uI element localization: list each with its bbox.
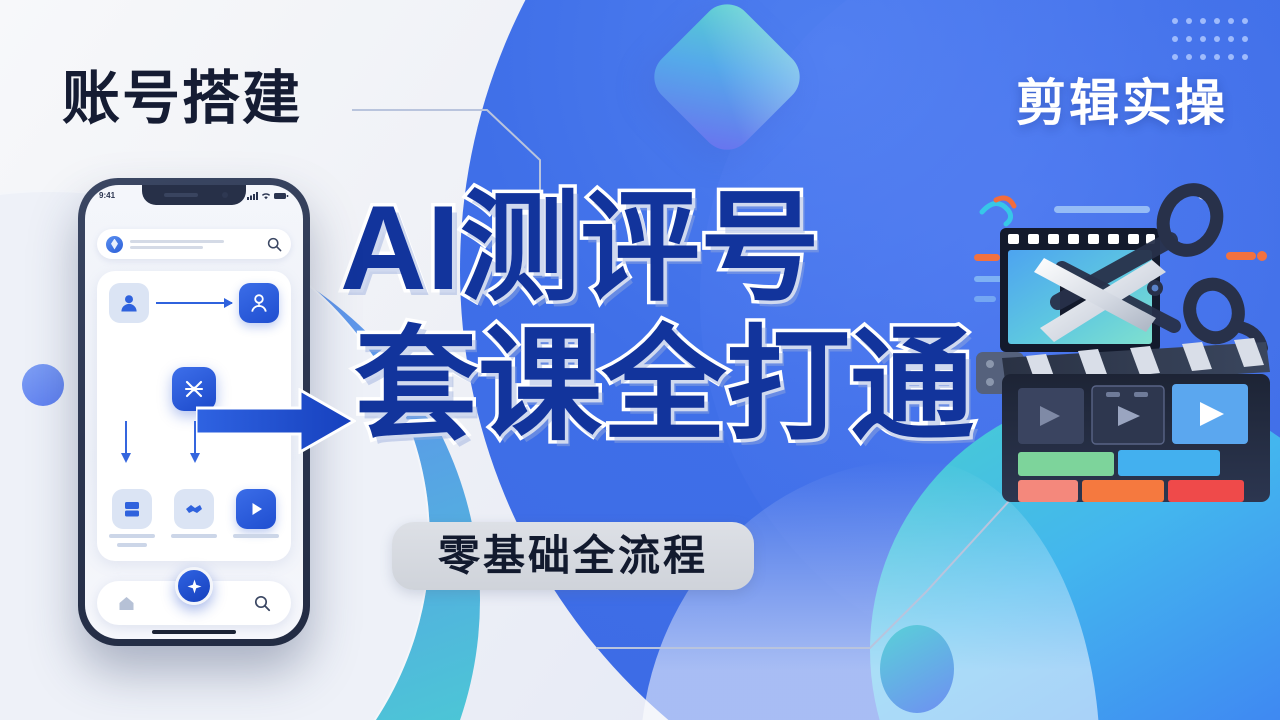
subtitle-badge: 零基础全流程 bbox=[392, 522, 754, 590]
leaf-label-bar bbox=[117, 543, 146, 547]
title-line-2: 套课全打通 bbox=[354, 324, 974, 448]
leaf-label-bar bbox=[171, 534, 217, 538]
flow-node-source bbox=[109, 283, 149, 323]
avatar-icon bbox=[106, 236, 123, 253]
status-time: 9:41 bbox=[99, 191, 115, 200]
decor-gradient-ovoid bbox=[880, 625, 954, 713]
flow-top-row bbox=[109, 283, 279, 323]
play-icon-tile bbox=[236, 489, 276, 529]
phone-status-bar: 9:41 bbox=[85, 191, 303, 200]
document-icon-tile bbox=[112, 489, 152, 529]
search-icon[interactable] bbox=[254, 595, 271, 612]
decor-small-blue-circle bbox=[22, 364, 64, 406]
user-icon bbox=[118, 292, 140, 314]
handshake-icon bbox=[183, 498, 205, 520]
label-editing-practice: 剪辑实操 bbox=[1016, 78, 1228, 128]
flow-leaf-document bbox=[109, 489, 155, 547]
search-input[interactable] bbox=[130, 240, 260, 249]
leaf-label-bar bbox=[233, 534, 279, 538]
flow-bottom-row bbox=[109, 489, 279, 547]
create-button[interactable] bbox=[175, 567, 213, 605]
document-icon bbox=[121, 498, 143, 520]
big-right-arrow bbox=[196, 388, 356, 454]
flow-arrow-right bbox=[156, 302, 232, 304]
wifi-icon bbox=[261, 192, 271, 200]
video-editing-graphic bbox=[974, 176, 1274, 506]
verified-user-icon bbox=[248, 292, 270, 314]
battery-icon bbox=[274, 192, 289, 200]
subtitle-text: 零基础全流程 bbox=[438, 532, 708, 579]
leaf-label-bar bbox=[109, 534, 155, 538]
phone-search-bar[interactable] bbox=[97, 229, 291, 259]
dot-grid-pattern bbox=[1172, 18, 1256, 72]
home-icon[interactable] bbox=[117, 594, 136, 613]
plus-sparkle-icon bbox=[186, 578, 203, 595]
home-indicator bbox=[152, 630, 236, 634]
clapperboard-icon bbox=[976, 338, 1270, 502]
flow-leaf-play bbox=[233, 489, 279, 547]
status-icon-group bbox=[247, 191, 289, 200]
label-account-setup: 账号搭建 bbox=[62, 70, 302, 128]
play-icon bbox=[246, 499, 266, 519]
main-title: AI测评号 套课全打通 bbox=[340, 188, 974, 448]
title-line-1: AI测评号 bbox=[340, 188, 974, 308]
flow-leaf-handshake bbox=[171, 489, 217, 547]
handshake-icon-tile bbox=[174, 489, 214, 529]
signal-icon bbox=[247, 192, 258, 200]
banner-canvas: 账号搭建 剪辑实操 AI测评号 套课全打通 零基础全流程 9:41 bbox=[0, 0, 1280, 720]
search-icon[interactable] bbox=[267, 237, 282, 252]
flow-node-target bbox=[239, 283, 279, 323]
